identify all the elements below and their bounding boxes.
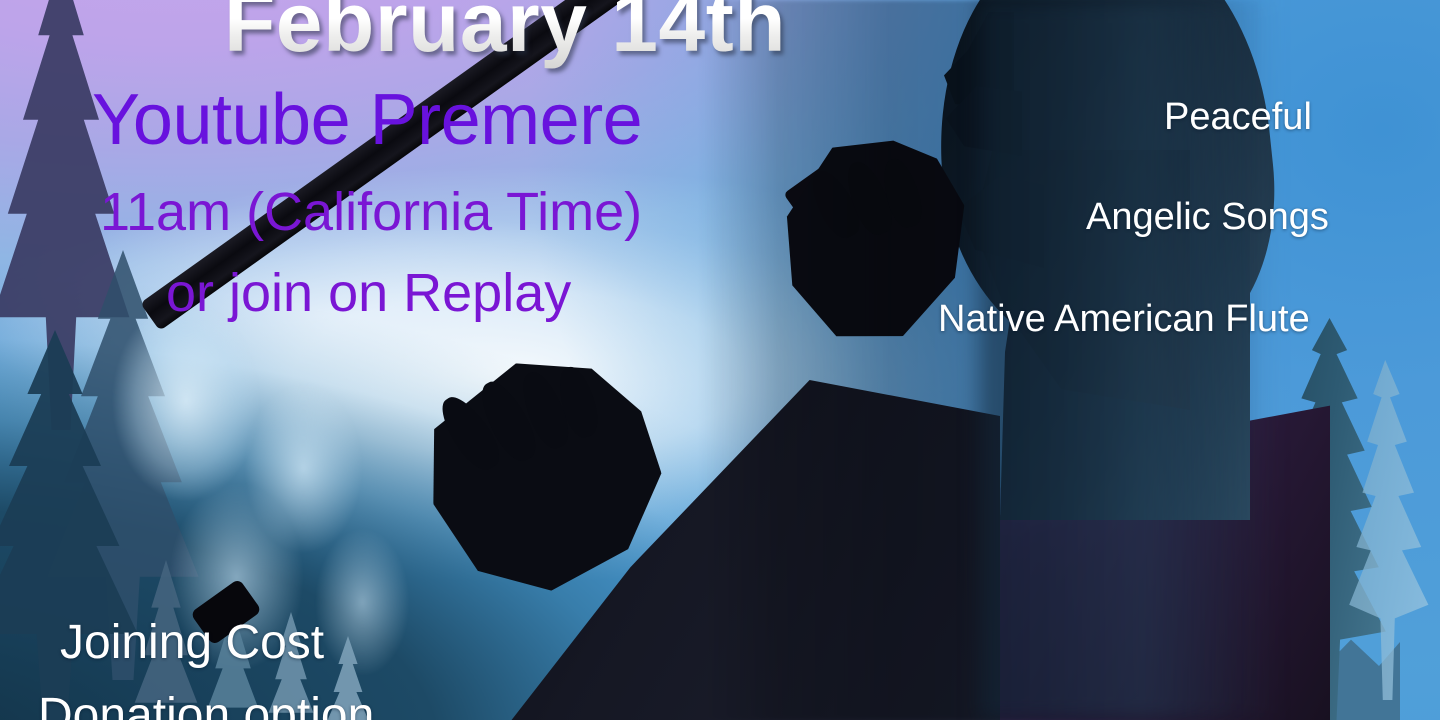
premiere-time-line: 11am (California Time): [100, 181, 642, 243]
feature-native-american-flute: Native American Flute: [938, 298, 1310, 341]
feature-peaceful: Peaceful: [1164, 96, 1312, 139]
event-date-headline: February 14th: [224, 0, 786, 71]
replay-line: or join on Replay: [166, 262, 571, 324]
flyer-canvas: February 14th Youtube Premere 11am (Cali…: [0, 0, 1440, 720]
joining-cost-heading: Joining Cost: [60, 615, 324, 670]
feature-angelic-songs: Angelic Songs: [1086, 196, 1329, 239]
premiere-platform-line: Youtube Premere: [92, 79, 642, 161]
donation-option-subheading: Donation option: [38, 688, 374, 720]
